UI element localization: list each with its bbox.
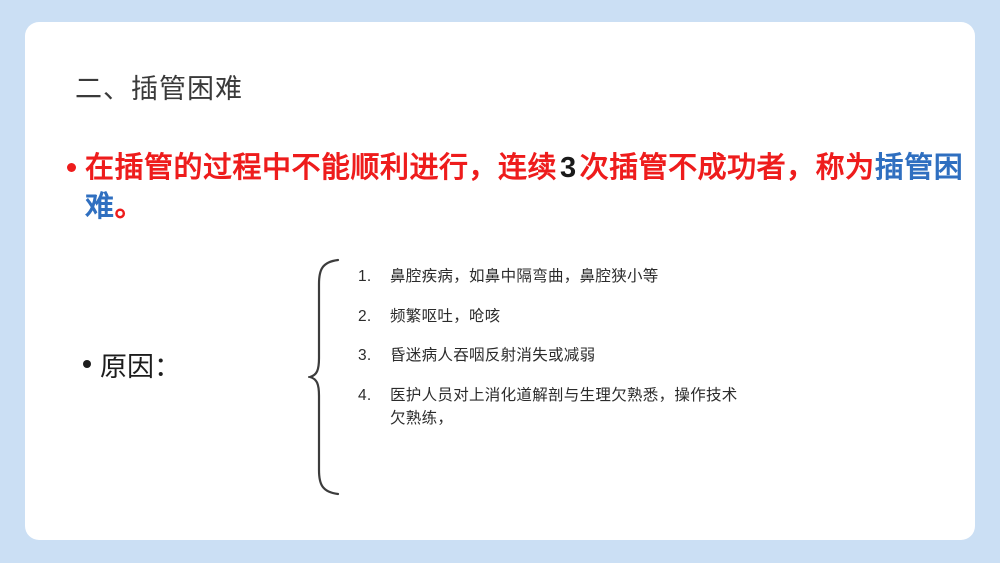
list-item-text: 频繁呕吐，呛咳 <box>390 308 501 325</box>
lead-part-1: 在插管的过程中不能顺利进行，连续 <box>85 152 557 184</box>
lead-part-2: 次插管不成功者， <box>580 152 816 184</box>
list-item-index: 3. <box>358 344 384 368</box>
lead-statement-text: 在插管的过程中不能顺利进行，连续3次插管不成功者，称为插管困难。 <box>85 149 967 228</box>
list-item: 2. 频繁呕吐，呛咳 <box>358 305 878 329</box>
causes-list: 1. 鼻腔疾病，如鼻中隔弯曲，鼻腔狭小等 2. 频繁呕吐，呛咳 3. 昏迷病人吞… <box>358 265 878 447</box>
list-item-text: 昏迷病人吞咽反射消失或减弱 <box>390 347 595 364</box>
list-item-index: 1. <box>358 265 384 289</box>
slide-panel: 二、插管困难 在插管的过程中不能顺利进行，连续3次插管不成功者，称为插管困难。 … <box>25 22 975 540</box>
lead-part-4: 。 <box>115 191 145 223</box>
lead-part-3: 称为 <box>816 152 875 184</box>
list-item: 3. 昏迷病人吞咽反射消失或减弱 <box>358 344 878 368</box>
page-title: 二、插管困难 <box>75 67 243 106</box>
lead-statement-block: 在插管的过程中不能顺利进行，连续3次插管不成功者，称为插管困难。 <box>67 149 967 228</box>
bullet-marker-icon <box>83 360 91 368</box>
list-item: 4. 医护人员对上消化道解剖与生理欠熟悉，操作技术 欠熟练， <box>358 384 878 431</box>
curly-brace-icon <box>308 258 348 496</box>
reason-label-block: 原因： <box>83 345 181 384</box>
list-item-text: 鼻腔疾病，如鼻中隔弯曲，鼻腔狭小等 <box>390 268 659 285</box>
list-item-index: 2. <box>358 305 384 329</box>
list-item-text: 医护人员对上消化道解剖与生理欠熟悉，操作技术 <box>390 387 738 404</box>
reason-label: 原因： <box>100 352 181 382</box>
list-item-text-continued: 欠熟练， <box>390 407 878 431</box>
bullet-marker-icon <box>67 163 76 172</box>
list-item: 1. 鼻腔疾病，如鼻中隔弯曲，鼻腔狭小等 <box>358 265 878 289</box>
list-item-index: 4. <box>358 384 384 408</box>
lead-number: 3 <box>557 152 580 184</box>
